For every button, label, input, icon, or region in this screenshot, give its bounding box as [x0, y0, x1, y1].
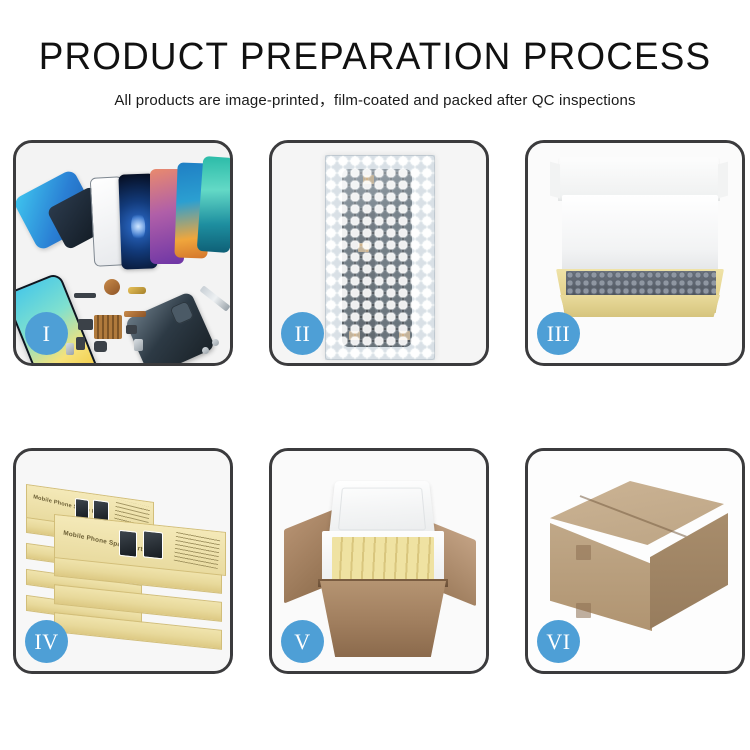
step-badge-2: II: [281, 312, 324, 355]
yellow-boxes-inside: [332, 537, 434, 581]
step-badge-5: V: [281, 620, 324, 663]
component-flex-cable: [78, 319, 93, 330]
box-phone-graphic-3: [119, 530, 137, 558]
bubble-wrap-bag: [325, 155, 435, 360]
header: PRODUCT PREPARATION PROCESS All products…: [0, 0, 750, 110]
component-screw-2: [202, 347, 209, 354]
process-step-3: III: [525, 140, 745, 366]
component-small-chip: [76, 337, 85, 350]
chip-array: [94, 315, 122, 339]
foam-sheet: [562, 195, 718, 273]
step-badge-1: I: [25, 312, 68, 355]
process-step-4: Mobile Phone Spare Parts Mobile Phone Sp…: [13, 448, 233, 674]
page-subtitle: All products are image-printed，film-coat…: [0, 89, 750, 110]
bubble-wrapped-contents: [566, 271, 716, 298]
component-camera: [94, 341, 107, 352]
component-bar: [74, 293, 96, 298]
product-preparation-process-page: PRODUCT PREPARATION PROCESS All products…: [0, 0, 750, 750]
carton-tape-top: [576, 545, 591, 560]
carton-tape-bottom: [576, 603, 591, 618]
step-badge-4: IV: [25, 620, 68, 663]
carton-body: [320, 581, 446, 657]
tweezers-icon: [199, 285, 230, 311]
component-ribbon: [124, 311, 146, 317]
component-bracket: [66, 343, 74, 355]
box-phone-graphic-4: [143, 530, 163, 559]
step-badge-3: III: [537, 312, 580, 355]
process-step-grid: I II: [13, 140, 745, 674]
phone-screen-teal: [197, 156, 230, 253]
component-gold-connector: [128, 287, 146, 294]
yellow-box-front: [560, 295, 720, 317]
component-ic: [126, 325, 137, 334]
process-step-2: II: [269, 140, 489, 366]
bag-edge: [325, 155, 435, 360]
component-screw: [212, 339, 219, 346]
component-shield: [134, 339, 143, 351]
step-badge-6: VI: [537, 620, 580, 663]
process-step-6: VI: [525, 448, 745, 674]
page-title: PRODUCT PREPARATION PROCESS: [11, 38, 739, 78]
component-speaker: [104, 279, 120, 295]
process-step-1: I: [13, 140, 233, 366]
process-step-5: V: [269, 448, 489, 674]
